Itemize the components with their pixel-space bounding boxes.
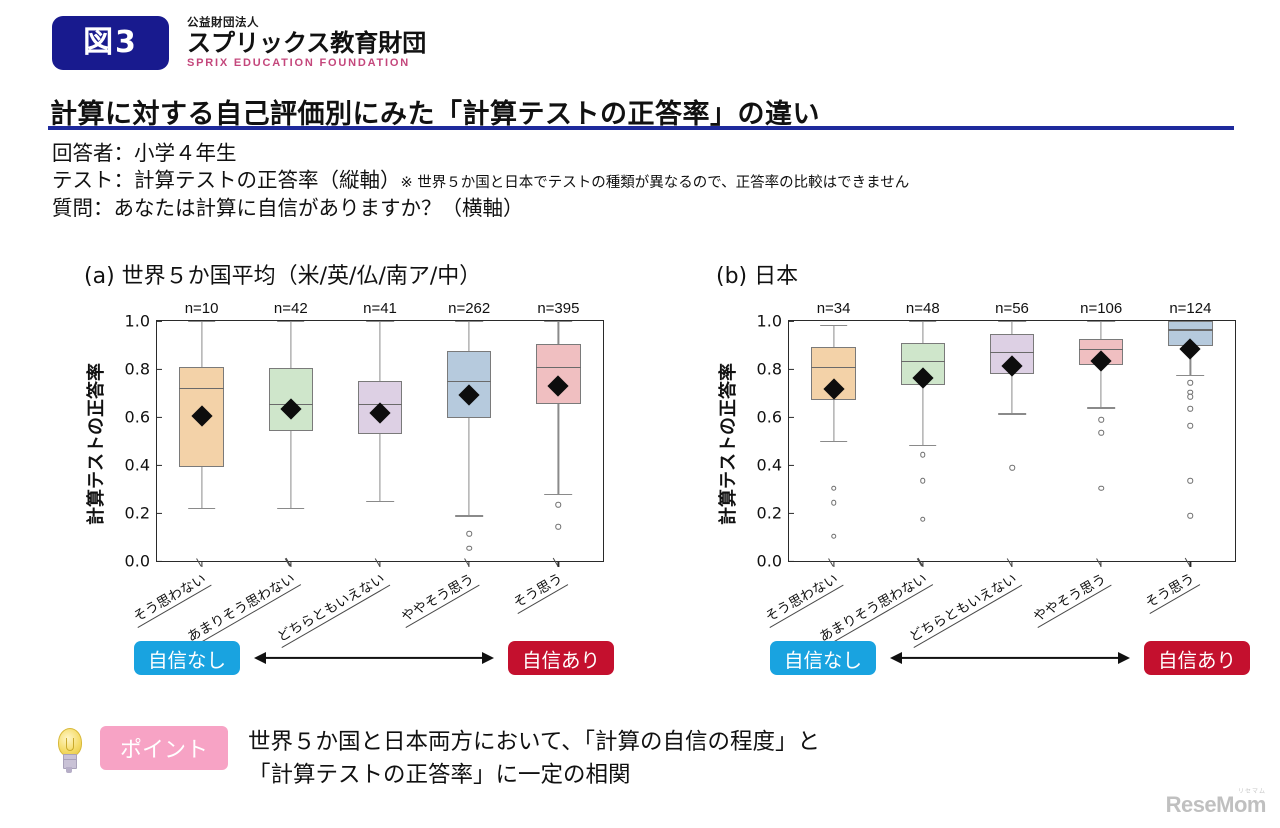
whisker-cap-upper (545, 321, 573, 322)
outlier-point (556, 524, 562, 530)
whisker-cap-lower (188, 508, 216, 509)
scale-b-arrow (890, 652, 1130, 664)
whisker-lower (1011, 374, 1012, 414)
scale-b-low-badge: 自信なし (770, 641, 876, 675)
whisker-cap-upper (366, 321, 394, 322)
watermark-main: ReseMom (1166, 792, 1266, 818)
y-tick-label: 1.0 (125, 312, 157, 331)
y-tick-label: 0.0 (757, 552, 789, 571)
sample-count-label: n=395 (537, 300, 579, 317)
outlier-point (1188, 478, 1194, 484)
y-tick-label: 0.0 (125, 552, 157, 571)
whisker-upper (558, 321, 559, 344)
whisker-cap-lower (366, 501, 394, 502)
chart-a-title: (a) 世界５か国平均（米/英/仏/南ア/中） (84, 258, 630, 290)
chart-b-y-axis-label: 計算テストの正答率 (714, 330, 740, 558)
outlier-point (1188, 406, 1194, 412)
whisker-cap-lower (277, 508, 305, 509)
point-line-2: 「計算テストの正答率」に一定の相関 (248, 759, 820, 792)
confidence-scale-b: 自信なし 自信あり (770, 641, 1250, 675)
outlier-point (831, 533, 837, 539)
whisker-cap-upper (1087, 321, 1115, 322)
median-line (447, 381, 492, 382)
y-tick-label: 0.4 (125, 456, 157, 475)
outlier-point (466, 531, 472, 537)
resemom-watermark: リセマム ReseMom (1166, 786, 1266, 818)
meta-respondents: 回答者：小学４年生 (52, 140, 1252, 167)
sample-count-label: n=10 (185, 300, 219, 317)
outlier-point (1188, 394, 1194, 400)
y-tick-label: 0.8 (125, 360, 157, 379)
median-line (901, 361, 946, 362)
outlier-point (920, 517, 926, 523)
whisker-cap-upper (998, 321, 1026, 322)
chart-b-plot-area: 0.00.20.40.60.81.0n=34n=48n=56n=106n=124 (788, 320, 1236, 562)
y-tick-label: 0.2 (125, 504, 157, 523)
whisker-upper (1011, 321, 1012, 334)
title-divider (48, 126, 1234, 130)
header: 図3 公益財団法人 スプリックス教育財団 SPRIX EDUCATION FOU… (52, 16, 426, 70)
figure-number-label: 図3 (83, 28, 138, 58)
x-category-label: ややそう思う (395, 566, 480, 628)
point-badge: ポイント (100, 726, 228, 770)
whisker-cap-lower (1087, 407, 1115, 408)
outlier-point (1098, 417, 1104, 423)
median-line (1168, 329, 1213, 330)
outlier-point (1098, 430, 1104, 436)
meta-question: 質問：あなたは計算に自信がありますか？（横軸） (52, 195, 1252, 222)
sample-count-label: n=262 (448, 300, 490, 317)
scale-b-high-badge: 自信あり (1144, 641, 1250, 675)
outlier-point (1188, 380, 1194, 386)
meta-test: テスト：計算テストの正答率（縦軸）※ 世界５か国と日本でテストの種類が異なるので… (52, 167, 1252, 194)
x-category-label: そう思う (1139, 566, 1200, 614)
y-tick-label: 0.4 (757, 456, 789, 475)
x-category-label: ややそう思う (1027, 566, 1112, 628)
chart-b: (b) 日本 計算テストの正答率 0.00.20.40.60.81.0n=34n… (716, 258, 1262, 596)
chart-a-plot-area: 0.00.20.40.60.81.0n=10n=42n=41n=262n=395 (156, 320, 604, 562)
sample-count-label: n=106 (1080, 300, 1122, 317)
whisker-lower (469, 418, 470, 515)
y-tick-label: 0.6 (125, 408, 157, 427)
y-tick-label: 0.6 (757, 408, 789, 427)
whisker-cap-upper (277, 321, 305, 322)
scale-a-high-badge: 自信あり (508, 641, 614, 675)
figure-number-badge: 図3 (52, 16, 169, 70)
median-line (990, 352, 1035, 353)
whisker-cap-lower (1177, 375, 1205, 376)
scale-a-low-badge: 自信なし (134, 641, 240, 675)
whisker-cap-upper (909, 321, 937, 322)
point-footer: ポイント 世界５か国と日本両方において、「計算の自信の程度」と 「計算テストの正… (52, 726, 820, 791)
slide-page: 図3 公益財団法人 スプリックス教育財団 SPRIX EDUCATION FOU… (0, 0, 1280, 828)
outlier-point (1188, 423, 1194, 429)
whisker-lower (558, 404, 559, 494)
whisker-cap-lower (455, 515, 483, 516)
confidence-scale-a: 自信なし 自信あり (134, 641, 614, 675)
sample-count-label: n=56 (995, 300, 1029, 317)
y-tick-label: 1.0 (757, 312, 789, 331)
whisker-lower (922, 385, 923, 445)
sample-count-label: n=34 (817, 300, 851, 317)
scale-a-arrow (254, 652, 494, 664)
whisker-lower (833, 400, 834, 441)
outlier-point (920, 452, 926, 458)
chart-a: (a) 世界５か国平均（米/英/仏/南ア/中） 計算テストの正答率 0.00.2… (84, 258, 630, 596)
whisker-cap-lower (909, 445, 937, 446)
whisker-upper (379, 321, 380, 381)
outlier-point (556, 502, 562, 508)
whisker-cap-lower (545, 494, 573, 495)
y-tick-label: 0.2 (757, 504, 789, 523)
outlier-point (466, 545, 472, 551)
sample-count-label: n=48 (906, 300, 940, 317)
whisker-lower (201, 467, 202, 508)
meta-test-label: テスト：計算テストの正答率（縦軸） (52, 168, 401, 192)
whisker-cap-lower (820, 441, 848, 442)
whisker-cap-upper (820, 325, 848, 326)
whisker-upper (1101, 321, 1102, 339)
median-line (179, 388, 224, 389)
sample-count-label: n=41 (363, 300, 397, 317)
whisker-cap-upper (455, 321, 483, 322)
outlier-point (831, 500, 837, 506)
organization-logo: 公益財団法人 スプリックス教育財団 SPRIX EDUCATION FOUNDA… (187, 17, 426, 69)
org-name-en: SPRIX EDUCATION FOUNDATION (187, 58, 426, 69)
arrow-right-icon (482, 652, 494, 664)
whisker-upper (922, 321, 923, 343)
whisker-upper (469, 321, 470, 351)
median-line (536, 367, 581, 368)
outlier-point (1009, 465, 1015, 471)
whisker-lower (379, 434, 380, 501)
outlier-point (831, 485, 837, 491)
chart-a-x-category-labels: そう思わないあまりそう思わないどちらともいえないややそう思うそう思う (156, 564, 604, 634)
outlier-point (1098, 485, 1104, 491)
org-name: スプリックス教育財団 (187, 31, 426, 55)
outlier-point (1188, 513, 1194, 519)
chart-b-x-category-labels: そう思わないあまりそう思わないどちらともいえないややそう思うそう思う (788, 564, 1236, 634)
whisker-upper (201, 321, 202, 367)
sample-count-label: n=42 (274, 300, 308, 317)
point-text: 世界５か国と日本両方において、「計算の自信の程度」と 「計算テストの正答率」に一… (248, 726, 820, 791)
whisker-cap-upper (188, 321, 216, 322)
y-tick-label: 0.8 (757, 360, 789, 379)
meta-block: 回答者：小学４年生 テスト：計算テストの正答率（縦軸）※ 世界５か国と日本でテス… (52, 140, 1252, 222)
chart-b-title: (b) 日本 (716, 258, 1262, 290)
median-line (811, 367, 856, 368)
arrow-right-icon (1118, 652, 1130, 664)
lightbulb-icon (52, 726, 86, 780)
whisker-upper (833, 325, 834, 348)
chart-a-y-axis-label: 計算テストの正答率 (82, 330, 108, 558)
whisker-lower (290, 431, 291, 508)
whisker-upper (290, 321, 291, 368)
outlier-point (920, 478, 926, 484)
sample-count-label: n=124 (1169, 300, 1211, 317)
point-line-1: 世界５か国と日本両方において、「計算の自信の程度」と (248, 726, 820, 759)
whisker-cap-lower (998, 413, 1026, 414)
org-prefix: 公益財団法人 (187, 17, 426, 29)
x-category-label: そう思う (507, 566, 568, 614)
meta-test-note: ※ 世界５か国と日本でテストの種類が異なるので、正答率の比較はできません (401, 175, 910, 191)
